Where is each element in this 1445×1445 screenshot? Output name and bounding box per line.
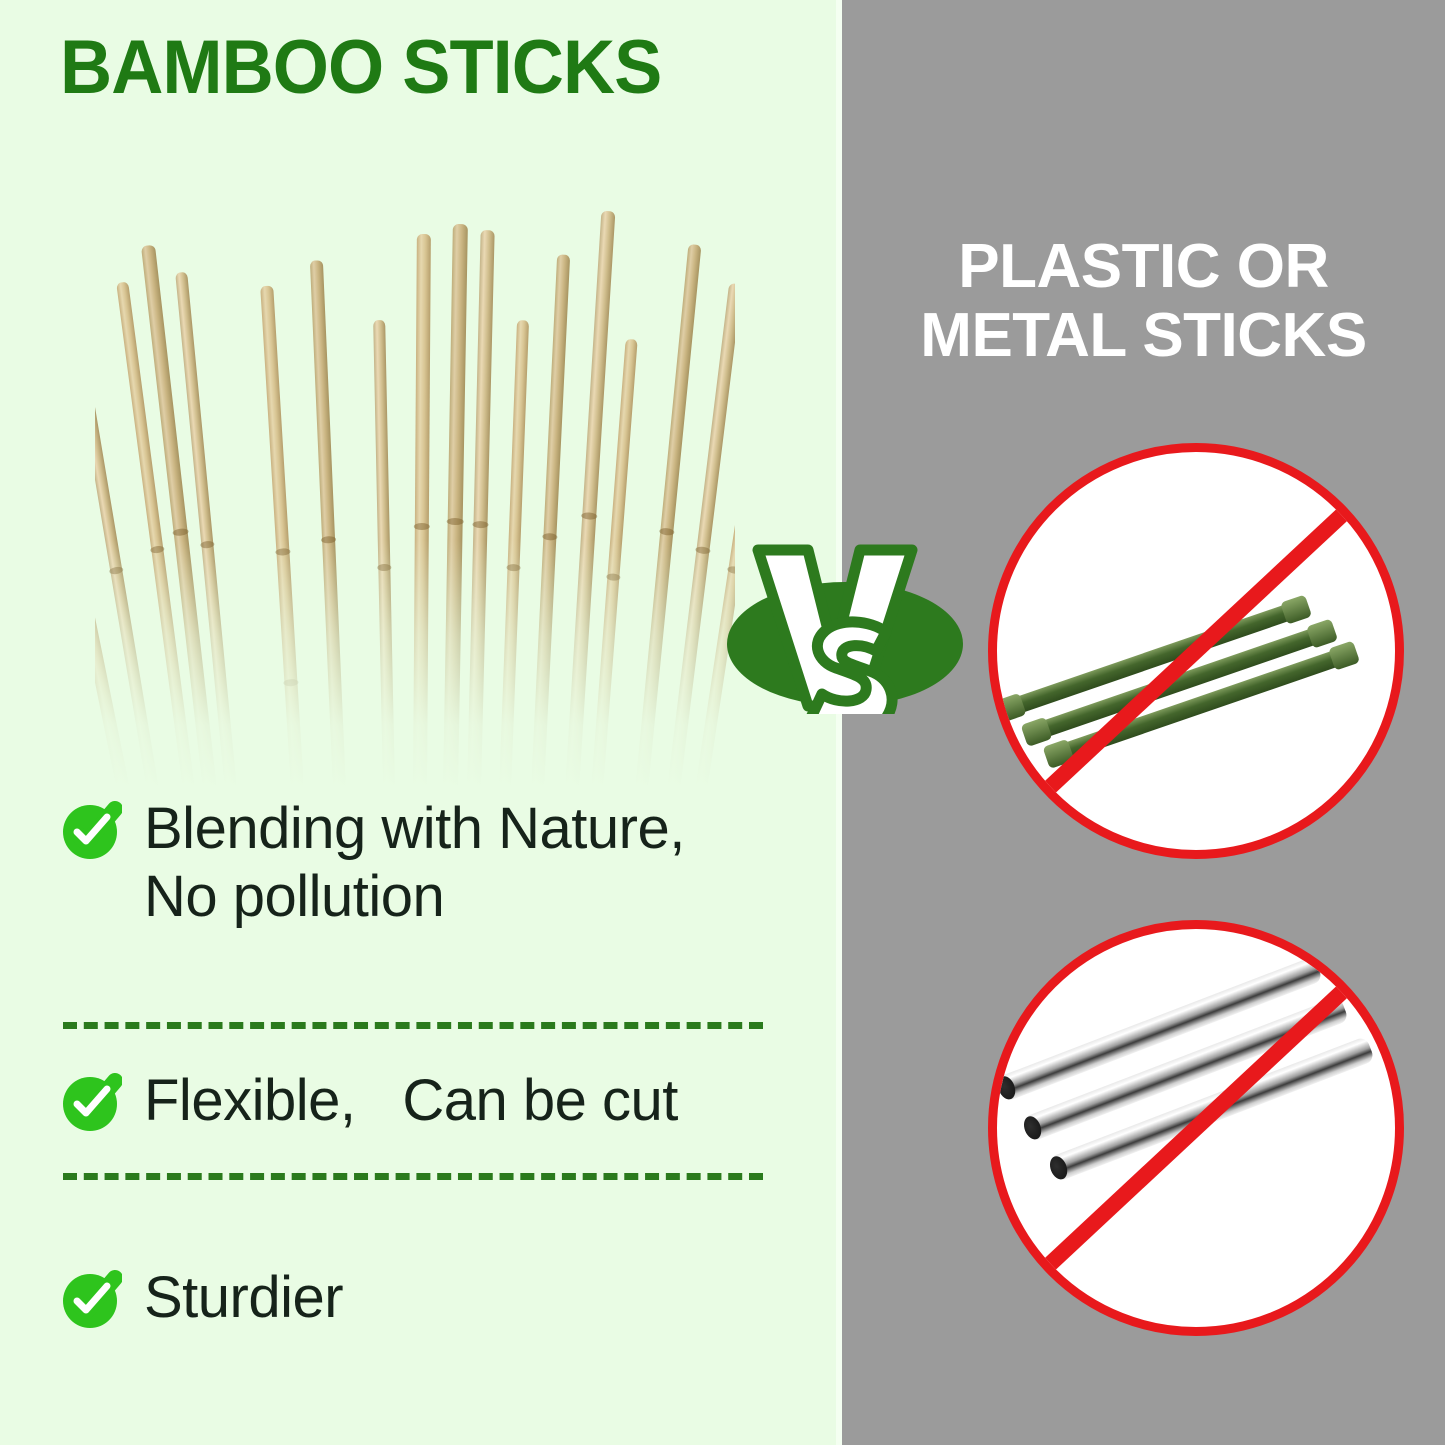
bamboo-title: BAMBOO STICKS bbox=[60, 30, 661, 106]
feature-label: Sturdier bbox=[144, 1264, 343, 1332]
feature-label: Blending with Nature, No pollution bbox=[144, 795, 685, 932]
feature-item: Blending with Nature, No pollution bbox=[60, 795, 790, 932]
feature-item: Sturdier bbox=[60, 1264, 790, 1332]
plastic-metal-title-line1: PLASTIC OR bbox=[842, 232, 1445, 301]
check-circle-icon bbox=[60, 1071, 122, 1133]
photo-fade-overlay bbox=[95, 540, 735, 790]
feature-divider bbox=[63, 1173, 763, 1180]
feature-list: Blending with Nature, No pollution Flexi… bbox=[60, 795, 790, 1333]
plastic-metal-title: PLASTIC OR METAL STICKS bbox=[842, 232, 1445, 371]
prohibited-plastic-stakes bbox=[988, 443, 1404, 859]
plastic-metal-title-line2: METAL STICKS bbox=[842, 301, 1445, 370]
feature-divider bbox=[63, 1022, 763, 1029]
prohibited-metal-tubes bbox=[988, 920, 1404, 1336]
check-circle-icon bbox=[60, 799, 122, 861]
feature-label: Flexible, Can be cut bbox=[144, 1067, 678, 1135]
check-circle-icon bbox=[60, 1268, 122, 1330]
versus-badge bbox=[722, 528, 968, 714]
product-comparison-infographic: BAMBOO STICKS PLASTIC OR METAL STICKS bbox=[0, 0, 1445, 1445]
bamboo-sticks-photo bbox=[95, 150, 735, 790]
feature-item: Flexible, Can be cut bbox=[60, 1067, 790, 1135]
